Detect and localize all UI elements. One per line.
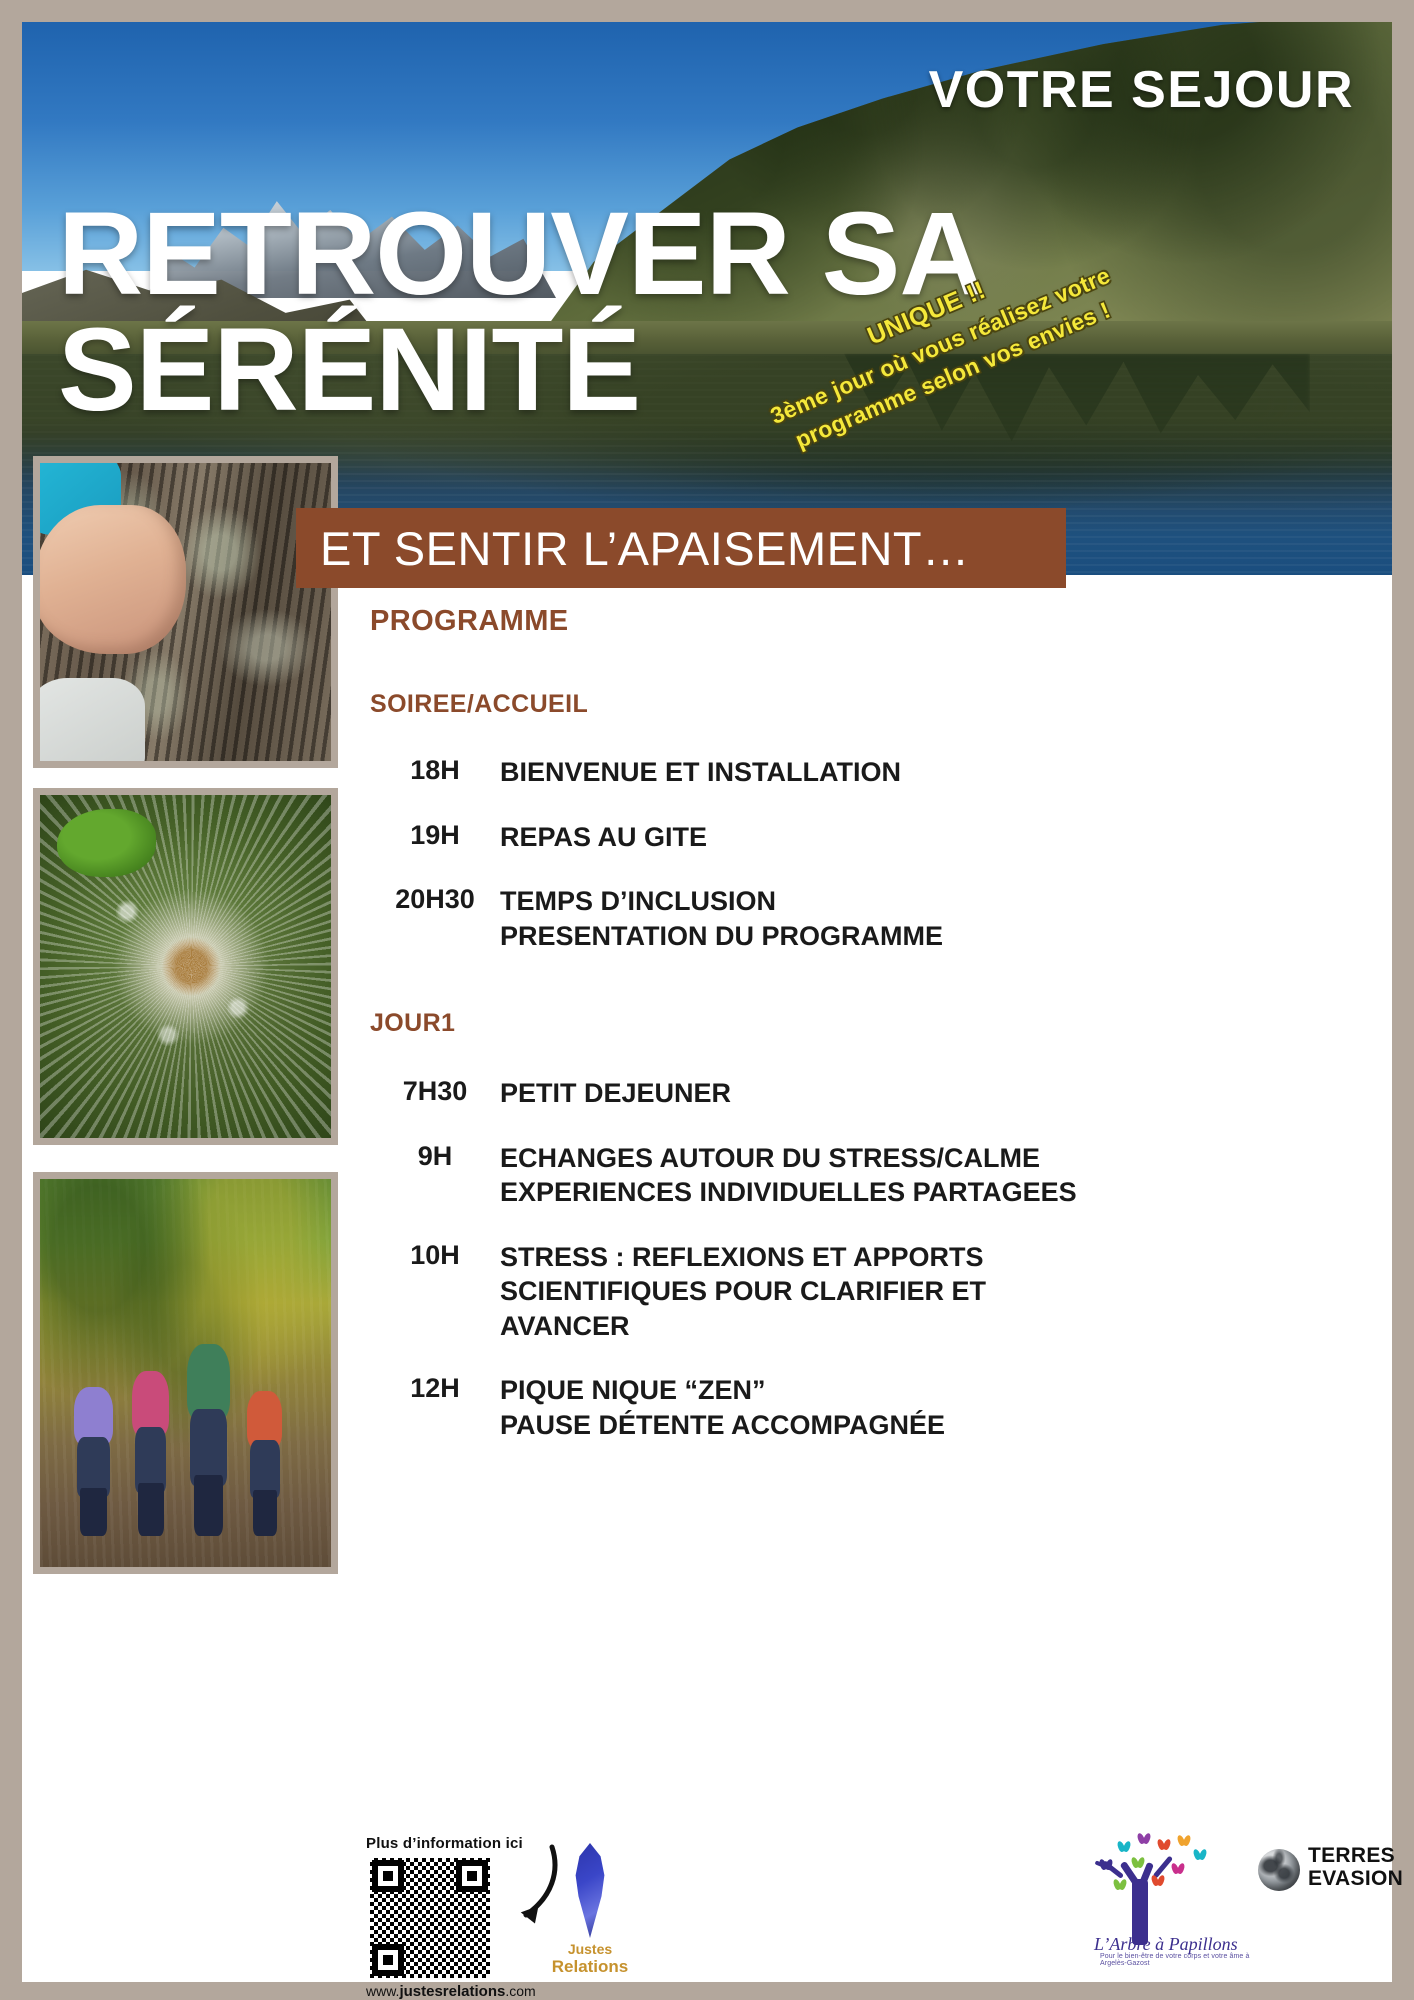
schedule-desc-line: REPAS AU GITE [500,820,707,855]
hiker-4 [242,1391,288,1536]
photo-dandelion-dew [33,788,338,1145]
footer-section: Plus d’information ici www.justesrelatio… [360,1835,1390,1985]
qr-code[interactable] [370,1858,490,1978]
programme-section: PROGRAMME SOIREE/ACCUEIL 18H BIENVENUE E… [370,605,1350,1443]
apaisement-banner: ET SENTIR L’APAISEMENT… [296,508,1066,588]
qr-finder-top-left [372,1860,404,1892]
schedule-desc-line: STRESS : REFLEXIONS ET APPORTS [500,1240,986,1275]
schedule-time: 7H30 [370,1076,500,1107]
butterfly-icon [1194,1849,1206,1860]
terres-line2: EVASION [1308,1868,1403,1891]
photo-hand-on-tree-bark [33,456,338,768]
schedule-desc: BIENVENUE ET INSTALLATION [500,755,901,790]
schedule-desc-line: PAUSE DÉTENTE ACCOMPAGNÉE [500,1408,945,1443]
schedule-row: 20H30 TEMPS D’INCLUSION PRESENTATION DU … [370,884,1350,953]
hero-kicker: VOTRE SEJOUR [929,60,1354,120]
schedule-desc: PIQUE NIQUE “ZEN” PAUSE DÉTENTE ACCOMPAG… [500,1373,945,1442]
frame-left-border [0,0,22,2000]
schedule-desc: STRESS : REFLEXIONS ET APPORTS SCIENTIFI… [500,1240,986,1344]
schedule-desc-line: AVANCER [500,1309,986,1344]
schedule-time: 9H [370,1141,500,1172]
schedule-desc-line: EXPERIENCES INDIVIDUELLES PARTAGEES [500,1175,1077,1210]
qr-finder-top-right [456,1860,488,1892]
schedule-desc-line: PRESENTATION DU PROGRAMME [500,919,943,954]
hero-title: RETROUVER SA SÉRÉNITÉ [58,197,984,428]
jr-line1: Justes [535,1941,645,1957]
hiker-1 [68,1387,119,1536]
schedule-row: 10H STRESS : REFLEXIONS ET APPORTS SCIEN… [370,1240,1350,1344]
shell-icon [566,1843,614,1938]
butterfly-icon [1118,1841,1130,1852]
schedule-desc-line: PETIT DEJEUNER [500,1076,731,1111]
schedule-row: 12H PIQUE NIQUE “ZEN” PAUSE DÉTENTE ACCO… [370,1373,1350,1442]
butterfly-icon [1178,1835,1190,1846]
butterfly-icon [1152,1875,1164,1886]
hiker-3 [180,1344,236,1536]
website-url[interactable]: www.justesrelations.com [366,1983,630,2000]
butterfly-icon [1132,1857,1144,1868]
globe-icon [1258,1849,1300,1891]
schedule-desc-line: PIQUE NIQUE “ZEN” [500,1373,945,1408]
jr-line2: Relations [535,1957,645,1977]
hero-title-line1: RETROUVER SA [58,188,984,320]
poster-root: VOTRE SEJOUR RETROUVER SA SÉRÉNITÉ UNIQU… [0,0,1414,2000]
hiker-2 [127,1371,176,1536]
schedule-desc: ECHANGES AUTOUR DU STRESS/CALME EXPERIEN… [500,1141,1077,1210]
section-title-jour1: JOUR1 [370,1009,1350,1038]
schedule-desc: TEMPS D’INCLUSION PRESENTATION DU PROGRA… [500,884,943,953]
schedule-desc: PETIT DEJEUNER [500,1076,731,1111]
schedule-desc-line: SCIENTIFIQUES POUR CLARIFIER ET [500,1274,986,1309]
schedule-time: 12H [370,1373,500,1404]
schedule-time: 10H [370,1240,500,1271]
arbre-name: L’Arbre à Papillons [1094,1934,1238,1955]
schedule-time: 18H [370,755,500,786]
terres-evasion-text: TERRES EVASION [1308,1845,1403,1890]
schedule-time: 20H30 [370,884,500,915]
section-title-soiree: SOIREE/ACCUEIL [370,690,1350,719]
butterfly-icon [1172,1863,1184,1874]
partner-logos: L’Arbre à Papillons Pour le bien-être de… [1086,1829,1386,1979]
frame-right-border [1392,0,1414,2000]
schedule-time: 19H [370,820,500,851]
hikers-group [57,1334,313,1536]
butterfly-icon [1138,1833,1150,1844]
schedule-row: 19H REPAS AU GITE [370,820,1350,855]
photo-hikers-forest-trail [33,1172,338,1574]
schedule-desc-line: ECHANGES AUTOUR DU STRESS/CALME [500,1141,1077,1176]
butterfly-icon [1158,1839,1170,1850]
schedule-desc: REPAS AU GITE [500,820,707,855]
schedule-row: 7H30 PETIT DEJEUNER [370,1076,1350,1111]
schedule-row: 18H BIENVENUE ET INSTALLATION [370,755,1350,790]
butterfly-icon [1114,1879,1126,1890]
frame-top-border [0,0,1414,22]
arbre-tagline: Pour le bien-être de votre corps et votr… [1100,1953,1261,1967]
arbre-a-papillons-logo: L’Arbre à Papillons Pour le bien-être de… [1086,1833,1261,1973]
white-trousers [40,678,145,761]
hero-title-line2: SÉRÉNITÉ [58,313,984,429]
schedule-row: 9H ECHANGES AUTOUR DU STRESS/CALME EXPER… [370,1141,1350,1210]
butterfly-icon [1100,1859,1112,1870]
justes-relations-logo: Justes Relations [535,1843,645,1977]
hand-shape [40,505,186,654]
terres-line1: TERRES [1308,1845,1403,1868]
qr-finder-bottom-left [372,1944,404,1976]
schedule-desc-line: BIENVENUE ET INSTALLATION [500,755,901,790]
banner-text: ET SENTIR L’APAISEMENT… [296,521,970,576]
green-leaf [57,809,156,878]
schedule-desc-line: TEMPS D’INCLUSION [500,884,943,919]
programme-heading: PROGRAMME [370,605,1350,638]
